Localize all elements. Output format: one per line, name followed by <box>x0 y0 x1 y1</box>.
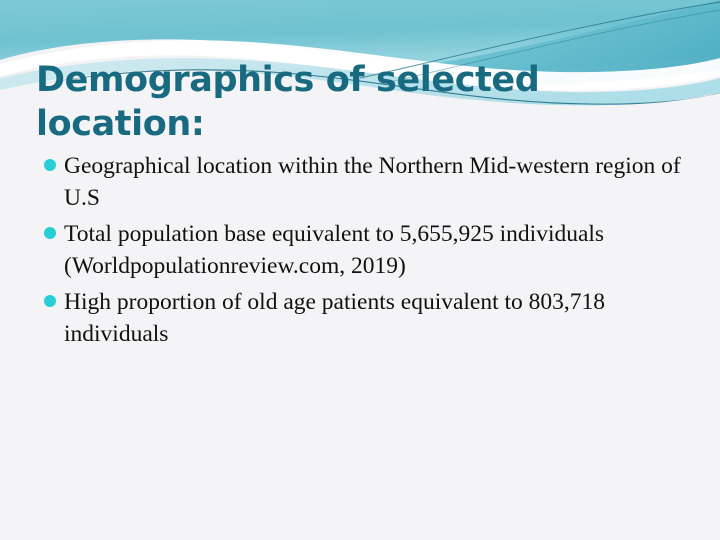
list-item-text: High proportion of old age patients equi… <box>64 286 696 350</box>
presentation-slide: Demographics of selected location: Geogr… <box>0 0 720 540</box>
list-item: Geographical location within the Norther… <box>36 150 696 214</box>
bullet-list: Geographical location within the Norther… <box>36 150 696 354</box>
bullet-dot-icon <box>44 159 56 171</box>
bullet-dot-icon <box>44 295 56 307</box>
list-item-text: Geographical location within the Norther… <box>64 150 696 214</box>
list-item: High proportion of old age patients equi… <box>36 286 696 350</box>
title-block: Demographics of selected location: <box>36 58 656 146</box>
page-title: Demographics of selected location: <box>36 58 656 146</box>
list-item: Total population base equivalent to 5,65… <box>36 218 696 282</box>
bullet-dot-icon <box>44 227 56 239</box>
list-item-text: Total population base equivalent to 5,65… <box>64 218 696 282</box>
